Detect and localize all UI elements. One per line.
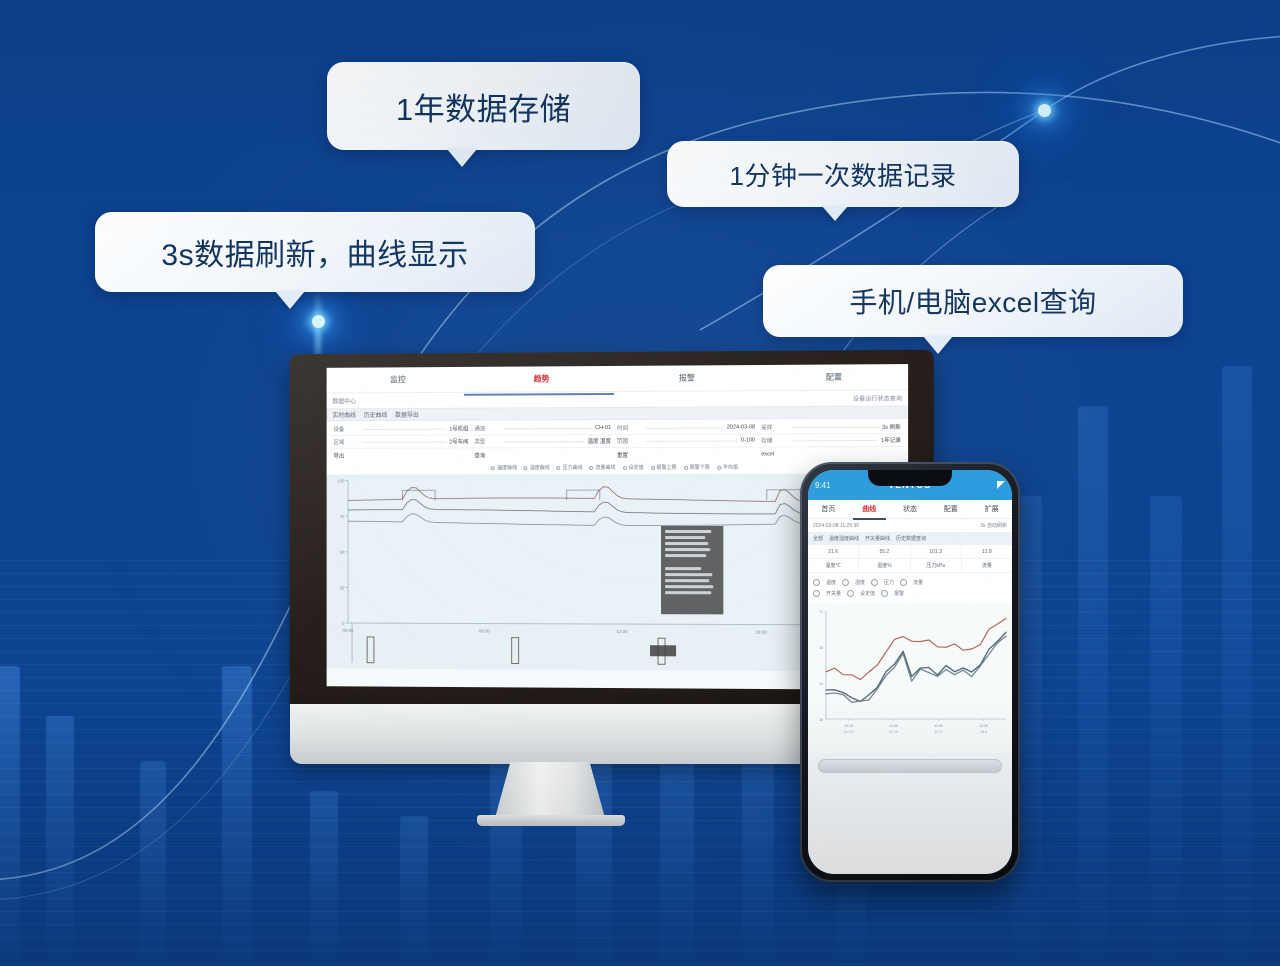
legend-dot-icon	[717, 465, 721, 469]
phone-chip-1[interactable]: 温度湿度曲线	[829, 535, 859, 542]
form-cell[interactable]: 查询	[471, 450, 614, 458]
svg-text:11:05: 11:05	[889, 724, 897, 728]
legend-label: 报警下限	[690, 464, 710, 471]
legend-label: 设定值	[628, 464, 643, 471]
svg-text:24: 24	[819, 682, 823, 686]
form-underline	[646, 440, 738, 441]
metric-icon[interactable]	[847, 590, 854, 597]
form-label: 设备	[333, 425, 358, 433]
legend-item[interactable]: 设定值	[622, 464, 643, 471]
svg-text:00:00: 00:00	[343, 628, 354, 633]
svg-text:75: 75	[340, 514, 345, 519]
legend-item[interactable]: 湿度曲线	[524, 464, 550, 471]
phone-icon-label: 温度	[826, 579, 836, 586]
form-value: CH-01	[595, 425, 611, 431]
legend-label: 平均值	[723, 464, 738, 471]
form-underline	[791, 426, 880, 427]
svg-text:0: 0	[342, 621, 345, 626]
callout-bubble-excel: 手机/电脑excel查询	[763, 265, 1183, 337]
form-label: 类型	[474, 437, 500, 445]
phone-grid-cell: 温度℃	[808, 559, 859, 572]
svg-text:10:15: 10:15	[844, 724, 853, 728]
phone-refresh-note: 3s 自动刷新	[980, 522, 1007, 529]
form-cell[interactable]: 通道 CH-01	[471, 424, 614, 433]
phone-icon-label: 设定值	[860, 590, 875, 597]
form-label: 区域	[333, 438, 358, 446]
form-cell[interactable]: 设备 1号机组	[331, 425, 472, 434]
monitor-stand-foot	[477, 815, 625, 826]
app-breadcrumb-right: 设备运行状态查询	[853, 393, 902, 402]
phone-grid-cell: 21.6	[808, 545, 859, 558]
legend-label: 流量曲线	[596, 464, 616, 471]
metric-icon[interactable]	[813, 590, 820, 597]
smartphone: 9:41 VENTCO 首页 曲线 状态 配置 扩展 2024-03-08 11…	[800, 462, 1020, 882]
form-value: 重置	[617, 450, 628, 458]
form-label: 采样	[761, 423, 787, 431]
callout-bubble-refresh: 3s数据刷新，曲线显示	[95, 212, 535, 292]
phone-icon-label: 报警	[894, 590, 904, 597]
form-value: 1年记录	[881, 436, 901, 444]
legend-item[interactable]: 压力曲线	[557, 464, 583, 471]
svg-text:48: 48	[819, 646, 823, 650]
callout-text: 1分钟一次数据记录	[730, 156, 957, 193]
app-crumb-1[interactable]: 历史曲线	[364, 410, 388, 419]
phone-icon-row: 温度 湿度 压力 流量	[813, 577, 1007, 588]
phone-grid-cell: 湿度%	[859, 559, 910, 572]
form-underline	[646, 427, 724, 428]
form-label: 时间	[617, 424, 643, 432]
svg-text:71: 71	[819, 610, 823, 614]
phone-tab-0[interactable]: 首页	[808, 504, 849, 514]
metric-icon[interactable]	[842, 579, 849, 586]
form-cell[interactable]: excel	[758, 451, 904, 457]
form-underline	[362, 428, 446, 429]
svg-text:18:00: 18:00	[756, 630, 768, 635]
callout-text: 3s数据刷新，曲线显示	[161, 230, 468, 274]
svg-text:16: 16	[819, 718, 823, 722]
legend-label: 压力曲线	[563, 464, 583, 471]
form-cell[interactable]: 范围 0-100	[614, 436, 758, 445]
app-crumb-0[interactable]: 实时曲线	[332, 410, 355, 419]
form-value: excel	[761, 451, 774, 457]
phone-value-grid: 21.6 55.2 101.3 12.8 温度℃ 湿度% 压力kPa 流量	[808, 545, 1012, 573]
phone-grid-cell: 12.8	[962, 545, 1012, 558]
legend-item[interactable]: 流量曲线	[590, 464, 616, 471]
svg-text:12:00: 12:00	[616, 629, 628, 634]
svg-text:07:19: 07:19	[889, 730, 898, 734]
phone-tab-4[interactable]: 扩展	[971, 504, 1012, 514]
bubble-tail	[923, 336, 953, 354]
bubble-tail	[275, 291, 305, 309]
phone-screen: 9:41 VENTCO 首页 曲线 状态 配置 扩展 2024-03-08 11…	[808, 470, 1012, 874]
phone-filter-chips: 全部 温度湿度曲线 开关量曲线 历史数据查询	[808, 532, 1012, 545]
phone-icon-label: 湿度	[855, 579, 865, 586]
form-value: 导出	[333, 451, 344, 459]
app-tab-0[interactable]: 监控	[327, 374, 470, 386]
form-underline	[791, 440, 878, 441]
chart-time-marker	[650, 645, 676, 656]
callout-bubble-record: 1分钟一次数据记录	[667, 141, 1019, 207]
app-tab-1[interactable]: 趋势	[469, 373, 614, 385]
app-crumb-2[interactable]: 数据导出	[395, 410, 419, 419]
legend-item[interactable]: 平均值	[717, 464, 738, 471]
legend-dot-icon	[590, 466, 594, 470]
legend-label: 湿度曲线	[530, 464, 550, 471]
form-underline	[503, 428, 592, 429]
phone-tab-1[interactable]: 曲线	[849, 504, 890, 514]
phone-grid-cell: 流量	[962, 559, 1012, 572]
legend-label: 温度曲线	[497, 464, 517, 471]
phone-grid-cell: 55.2	[859, 545, 910, 558]
monitor-stand-neck	[495, 762, 605, 818]
app-tab-bar: 监控 趋势 报警 配置	[327, 364, 908, 394]
form-label: 范围	[617, 437, 643, 445]
bubble-tail	[822, 206, 848, 221]
legend-dot-icon	[651, 465, 655, 469]
promo-stage: 监控 趋势 报警 配置 数据中心 设备运行状态查询 实时曲线 历史曲线 数据导出	[0, 0, 1280, 966]
callout-bubble-storage: 1年数据存储	[327, 62, 640, 150]
metric-icon[interactable]	[813, 579, 820, 586]
legend-label: 报警上限	[657, 464, 677, 471]
phone-icon-label: 压力	[884, 579, 894, 586]
chart-tooltip	[661, 526, 723, 614]
form-cell[interactable]: 存储 1年记录	[758, 436, 904, 445]
svg-text:13:45: 13:45	[979, 724, 988, 728]
form-cell[interactable]: 采样 3s 刷新	[758, 423, 904, 432]
phone-chart-svg: 7148241610:1510.7.611:0507:1912:3513:711…	[808, 603, 1012, 753]
phone-grid-row: 温度℃ 湿度% 压力kPa 流量	[808, 559, 1012, 573]
legend-item[interactable]: 温度曲线	[491, 464, 517, 471]
form-cell[interactable]: 类型 温度 湿度	[471, 437, 614, 445]
phone-timestamp: 2024-03-08 11:25:30	[813, 523, 859, 529]
glow-node-left	[312, 315, 325, 328]
phone-status-time: 9:41	[815, 481, 831, 490]
phone-tab-active-underline	[853, 518, 886, 520]
phone-action-button[interactable]	[818, 759, 1002, 773]
form-cell[interactable]: 重置	[614, 450, 758, 458]
metric-icon[interactable]	[871, 579, 878, 586]
svg-text:06:00: 06:00	[479, 628, 490, 633]
form-value: 查询	[474, 451, 485, 459]
phone-chip-0[interactable]: 全部	[813, 535, 823, 542]
svg-text:25: 25	[340, 585, 345, 590]
svg-text:50: 50	[340, 550, 345, 555]
phone-subheader: 2024-03-08 11:25:30 3s 自动刷新	[808, 519, 1012, 532]
phone-grid-row: 21.6 55.2 101.3 12.8	[808, 545, 1012, 559]
phone-chip-3[interactable]: 历史数据查询	[896, 535, 926, 542]
svg-text:15.4: 15.4	[980, 730, 987, 734]
svg-text:10.7.6: 10.7.6	[844, 730, 854, 734]
phone-tab-2[interactable]: 状态	[890, 504, 931, 514]
phone-icon-row: 开关量 设定值 报警	[813, 588, 1007, 599]
app-filter-form: 设备 1号机组 通道 CH-01 时间 2024-03-08	[327, 419, 908, 462]
form-underline	[503, 441, 584, 442]
legend-dot-icon	[684, 465, 688, 469]
phone-tab-3[interactable]: 配置	[930, 504, 971, 514]
form-label: 存储	[761, 436, 787, 444]
legend-dot-icon	[557, 466, 561, 470]
phone-grid-cell: 压力kPa	[911, 559, 962, 572]
svg-text:100: 100	[337, 479, 345, 484]
legend-dot-icon	[491, 466, 495, 470]
phone-tab-bar: 首页 曲线 状态 配置 扩展	[808, 500, 1012, 519]
phone-icon-label: 开关量	[826, 590, 841, 597]
phone-quick-icons: 温度 湿度 压力 流量 开关量 设定值 报警	[808, 573, 1012, 603]
app-tab-3[interactable]: 配置	[760, 371, 908, 383]
signal-icon	[997, 481, 1005, 489]
form-value: 2024-03-08	[727, 424, 755, 430]
phone-notch	[868, 470, 952, 486]
phone-chip-2[interactable]: 开关量曲线	[865, 535, 890, 542]
callout-text: 1年数据存储	[396, 84, 571, 129]
callout-text: 手机/电脑excel查询	[849, 281, 1096, 321]
form-value: 3s 刷新	[882, 423, 901, 431]
form-cell[interactable]: 区域 2号车间	[331, 438, 472, 446]
metric-icon[interactable]	[900, 579, 907, 586]
form-label: 通道	[474, 424, 500, 432]
legend-dot-icon	[524, 466, 528, 470]
form-value: 1号机组	[449, 425, 468, 433]
form-cell[interactable]: 导出	[331, 451, 472, 459]
legend-item[interactable]: 报警下限	[684, 464, 710, 471]
form-cell[interactable]: 时间 2024-03-08	[614, 423, 758, 432]
form-value: 0-100	[741, 437, 755, 443]
phone-grid-cell: 101.3	[911, 545, 962, 558]
glow-node-right	[1038, 104, 1051, 117]
phone-trend-chart[interactable]: 7148241610:1510.7.611:0507:1912:3513:711…	[808, 603, 1012, 753]
svg-text:13:71: 13:71	[934, 730, 943, 734]
app-tab-2[interactable]: 报警	[614, 372, 760, 384]
bubble-tail	[447, 149, 477, 167]
svg-text:12:35: 12:35	[934, 724, 943, 728]
metric-icon[interactable]	[881, 590, 888, 597]
legend-dot-icon	[622, 465, 626, 469]
form-value: 温度 湿度	[588, 437, 611, 445]
app-breadcrumb-left: 数据中心	[332, 396, 355, 405]
form-underline	[362, 441, 446, 442]
form-value: 2号车间	[449, 438, 468, 446]
phone-icon-label: 流量	[913, 579, 923, 586]
legend-item[interactable]: 报警上限	[651, 464, 677, 471]
